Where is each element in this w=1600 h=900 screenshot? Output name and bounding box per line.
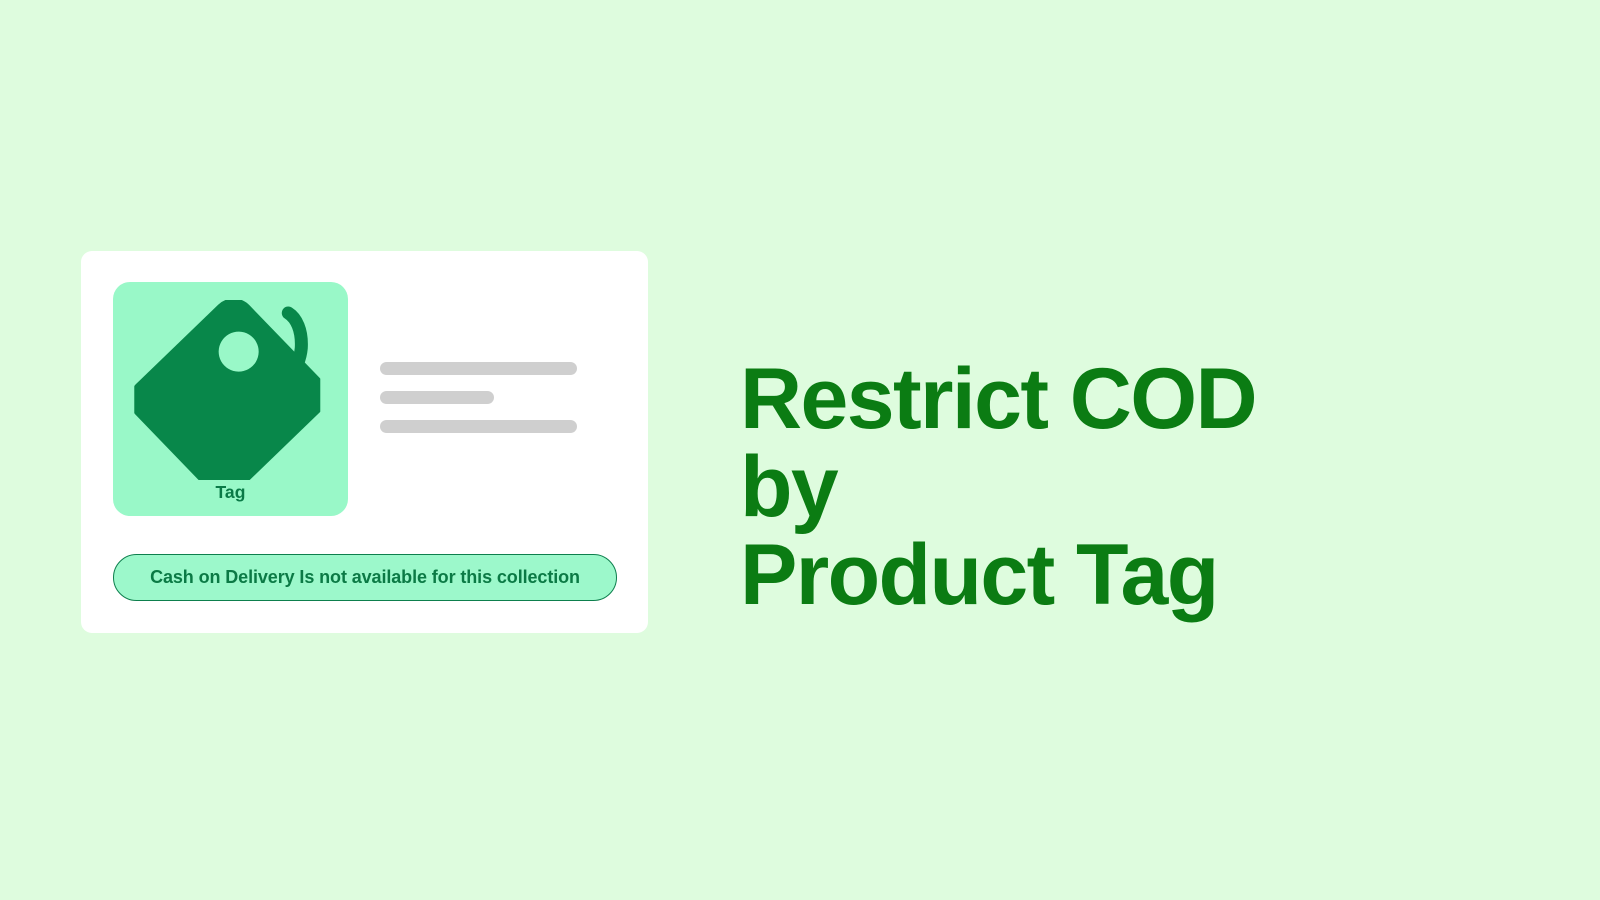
cod-restriction-banner-text: Cash on Delivery Is not available for th… (150, 567, 580, 588)
product-card: Tag Cash on Delivery Is not available fo… (81, 251, 648, 633)
placeholder-line-1 (380, 362, 577, 375)
tag-icon (134, 300, 320, 480)
tile-label: Tag (113, 482, 348, 503)
placeholder-line-2 (380, 391, 494, 404)
cod-restriction-banner: Cash on Delivery Is not available for th… (113, 554, 617, 601)
product-image-tile: Tag (113, 282, 348, 516)
placeholder-lines (380, 362, 578, 433)
placeholder-line-3 (380, 420, 577, 433)
page-title-line-2: Product Tag (740, 531, 1360, 619)
page-title-line-1: Restrict COD by (740, 355, 1360, 531)
promo-graphic: Tag Cash on Delivery Is not available fo… (0, 0, 1600, 900)
page-title: Restrict COD by Product Tag (740, 355, 1360, 619)
